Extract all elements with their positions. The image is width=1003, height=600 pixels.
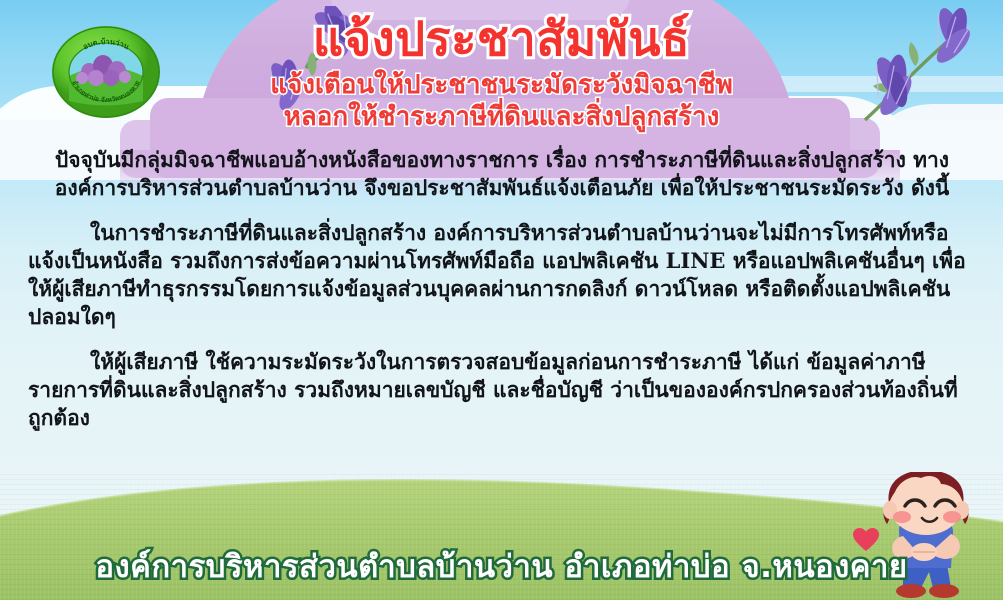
poster-title: แจ้งประชาสัมพันธ์: [0, 16, 1003, 63]
title-block: แจ้งประชาสัมพันธ์ แจ้งเตือนให้ประชาชนระม…: [0, 16, 1003, 133]
paragraph-3: ให้ผู้เสียภาษี ใช้ความระมัดระวังในการตรว…: [28, 348, 976, 431]
poster-body: ปัจจุบันมีกลุ่มมิจฉาชีพแอบอ้างหนังสือของ…: [28, 146, 976, 445]
poster-subtitle-line-2: หลอกให้ชำระภาษีที่ดินและสิ่งปลูกสร้าง: [0, 102, 1003, 134]
poster-subtitle-line-1: แจ้งเตือนให้ประชาชนระมัดระวังมิจฉาชีพ: [0, 70, 1003, 102]
footer-organization-name: องค์การบริหารส่วนตำบลบ้านว่าน อำเภอท่าบ่…: [0, 550, 1003, 584]
paragraph-1: ปัจจุบันมีกลุ่มมิจฉาชีพแอบอ้างหนังสือของ…: [28, 146, 976, 201]
paragraph-2: ในการชำระภาษีที่ดินและสิ่งปลูกสร้าง องค์…: [28, 219, 976, 330]
public-relations-poster: อบต.บ้านว่าน อำเภอท่าบ่อ จังหวัดหนองคาย …: [0, 0, 1003, 600]
